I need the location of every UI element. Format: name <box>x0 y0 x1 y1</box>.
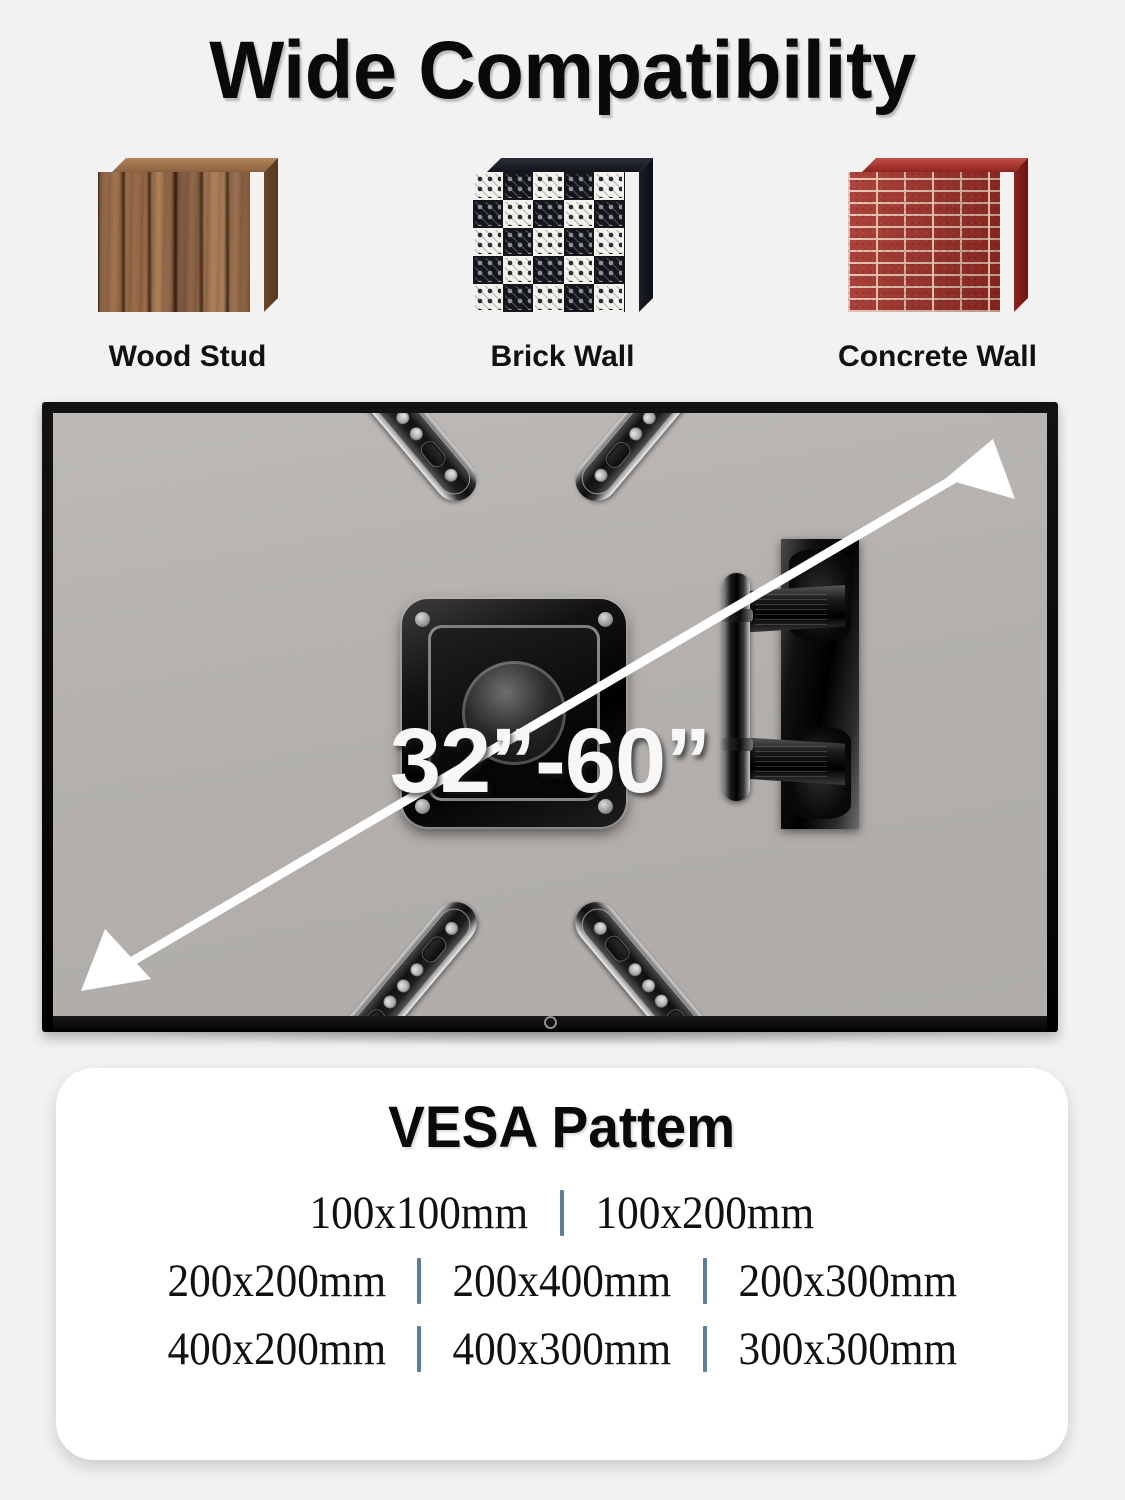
block-top-face <box>112 158 278 172</box>
mount-arm-bottom-right <box>567 894 717 1016</box>
material-item-brick-wall: Brick Wall <box>438 158 688 374</box>
vesa-separator <box>560 1190 564 1236</box>
vesa-size: 100x200mm <box>596 1186 815 1240</box>
tv-drop-shadow <box>102 1030 998 1046</box>
block-right-face <box>639 158 653 312</box>
mount-arm-bottom-left <box>335 894 485 1016</box>
power-led-ring-icon <box>544 1016 557 1029</box>
vesa-size: 400x200mm <box>167 1322 386 1376</box>
infographic-page: Wide Compatibility Wood Stud <box>0 0 1125 1500</box>
vesa-card-title: VESA Pattem <box>388 1094 735 1161</box>
mount-arm-top-left <box>335 413 485 509</box>
mount-arm-top-right <box>567 413 717 509</box>
material-label: Wood Stud <box>109 340 267 374</box>
vesa-row: 400x200mm 400x300mm 300x300mm <box>158 1322 967 1376</box>
articulating-arm-icon <box>709 539 859 829</box>
tv-size-range-label: 32”-60” <box>390 709 710 814</box>
vesa-size: 300x300mm <box>738 1322 957 1376</box>
tv-illustration: 32”-60” <box>42 402 1058 1032</box>
tv-screen: 32”-60” <box>53 413 1047 1016</box>
vesa-row: 200x200mm 200x400mm 200x300mm <box>158 1254 967 1308</box>
brick-course-offset <box>848 172 1000 312</box>
arm-link-lower <box>737 737 845 785</box>
bolt-hole <box>415 612 430 627</box>
block-right-face <box>264 158 278 312</box>
vesa-separator <box>417 1326 421 1372</box>
vesa-size: 200x400mm <box>453 1254 672 1308</box>
arm-link-upper <box>737 585 845 633</box>
block-front-face <box>98 172 250 312</box>
page-title: Wide Compatibility <box>17 24 1108 118</box>
wall-plate <box>781 539 859 829</box>
vesa-size: 100x100mm <box>310 1186 529 1240</box>
checker-tile-block-icon <box>473 158 653 326</box>
material-label: Concrete Wall <box>838 340 1037 374</box>
wood-stud-block-icon <box>98 158 278 326</box>
vesa-separator <box>703 1258 707 1304</box>
block-front-face <box>848 172 1000 312</box>
vesa-separator <box>417 1258 421 1304</box>
vesa-size: 200x200mm <box>167 1254 386 1308</box>
brick-shading <box>848 172 1000 312</box>
vesa-size: 200x300mm <box>738 1254 957 1308</box>
bolt-hole <box>598 612 613 627</box>
vesa-pattern-card: VESA Pattem 100x100mm 100x200mm 200x200m… <box>56 1068 1068 1460</box>
vesa-row: 100x100mm 100x200mm <box>300 1186 823 1240</box>
brick-block-icon <box>848 158 1028 326</box>
material-compatibility-row: Wood Stud Brick Wall <box>0 158 1125 374</box>
arm-pivot-post <box>723 573 750 801</box>
block-top-face <box>487 158 653 172</box>
vesa-size: 400x300mm <box>453 1322 672 1376</box>
material-item-wood-stud: Wood Stud <box>63 158 313 374</box>
block-front-face <box>473 172 625 312</box>
material-label: Brick Wall <box>491 340 635 374</box>
material-item-concrete-wall: Concrete Wall <box>813 158 1063 374</box>
vesa-separator <box>703 1326 707 1372</box>
block-right-face <box>1014 158 1028 312</box>
block-top-face <box>862 158 1028 172</box>
